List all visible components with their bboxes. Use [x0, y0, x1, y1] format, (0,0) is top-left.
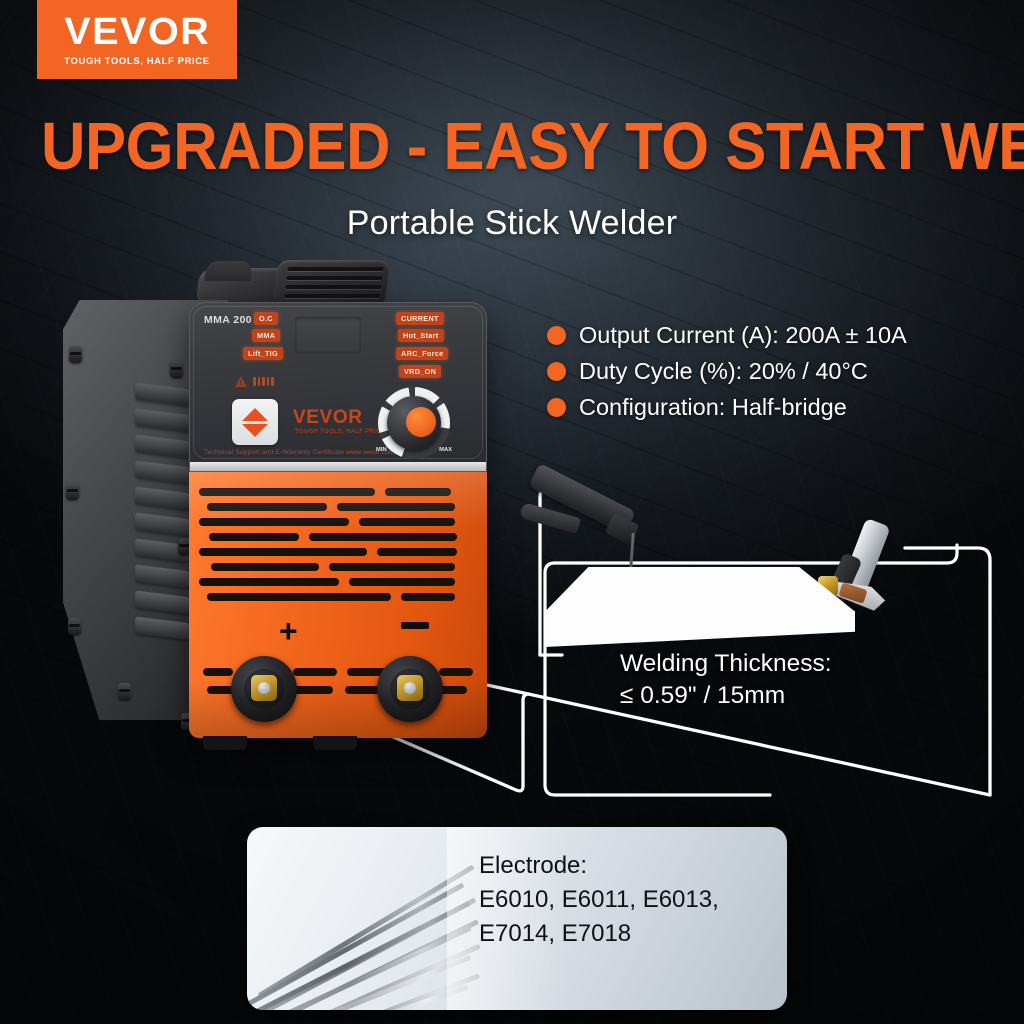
welder-feet	[203, 736, 473, 750]
spec-label: Output Current (A): 200A ± 10A	[579, 322, 907, 349]
spec-list: Output Current (A): 200A ± 10A Duty Cycl…	[547, 322, 907, 430]
spec-label: Duty Cycle (%): 20% / 40°C	[579, 358, 868, 385]
bullet-dot-icon	[547, 326, 566, 345]
brand-logo-tagline: TOUGH TOOLS, HALF PRICE	[64, 56, 209, 67]
bullet-dot-icon	[547, 398, 566, 417]
product-infographic: VEVOR TOUGH TOOLS, HALF PRICE UPGRADED -…	[0, 0, 1024, 1024]
panel-tag-arc-force: ARC_Force	[396, 347, 448, 360]
electrode-callout-text: Electrode: E6010, E6011, E6013, E7014, E…	[479, 849, 719, 951]
spec-label: Configuration: Half-bridge	[579, 394, 847, 421]
panel-tag-lift-tig: Lift_TIG	[243, 347, 283, 360]
welder-product-image: MMA 200 O.C MMA Lift_TIG CURRENT Hot_Sta…	[63, 258, 493, 758]
page-title: UPGRADED - EASY TO START WELDING	[41, 113, 983, 180]
panel-screw	[66, 483, 79, 500]
list-item: Configuration: Half-bridge	[547, 394, 907, 421]
brand-logo: VEVOR TOUGH TOOLS, HALF PRICE	[37, 0, 237, 79]
vevor-arrow-badge-icon	[232, 399, 278, 445]
model-label: MMA 200	[204, 314, 252, 326]
plate-side-face	[545, 611, 855, 651]
knob-orange-cap	[406, 407, 436, 437]
warning-icon	[235, 376, 289, 389]
electrode-callout-card: Electrode: E6010, E6011, E6013, E7014, E…	[247, 827, 787, 1010]
panel-tag-vrd-on: VRD_ON	[399, 365, 441, 378]
arrow-up-icon	[242, 408, 268, 421]
digital-display	[295, 317, 361, 353]
list-item: Output Current (A): 200A ± 10A	[547, 322, 907, 349]
thickness-line-2: ≤ 0.59" / 15mm	[620, 680, 832, 712]
carry-handle	[198, 258, 388, 306]
electrode-line-1: Electrode:	[479, 849, 719, 883]
panel-screw	[68, 618, 81, 635]
bullet-dot-icon	[547, 362, 566, 381]
electrode-line-3: E7014, E7018	[479, 917, 719, 951]
arrow-down-icon	[242, 424, 268, 437]
warning-triangle-icon	[235, 376, 247, 387]
welder-front-body: MMA 200 O.C MMA Lift_TIG CURRENT Hot_Sta…	[189, 302, 487, 738]
panel-tag-oc: O.C	[254, 312, 278, 325]
support-text-label: Technical Support and E-Warranty Certifi…	[204, 449, 346, 456]
panel-tag-mma: MMA	[252, 329, 280, 342]
thickness-line-1: Welding Thickness:	[620, 648, 832, 680]
warning-barcode-marks	[253, 377, 274, 386]
panel-brand-tagline: TOUGH TOOLS, HALF PRICE	[295, 429, 385, 435]
panel-brand-word: VEVOR	[293, 407, 363, 429]
side-louver-vents	[135, 386, 197, 644]
panel-screw	[170, 361, 183, 378]
electrode-line-2: E6010, E6011, E6013,	[479, 883, 719, 917]
steel-plate-illustration	[545, 567, 855, 657]
page-subtitle: Portable Stick Welder	[0, 204, 1024, 243]
panel-tag-current: CURRENT	[396, 312, 444, 325]
knob-max-label: MAX	[439, 447, 452, 453]
current-adjust-knob[interactable]: MIN MAX	[378, 387, 450, 459]
panel-screw	[118, 683, 131, 700]
panel-screw	[69, 346, 82, 363]
panel-tag-hot-start: Hot_Start	[398, 329, 444, 342]
knob-min-label: MIN	[376, 447, 387, 453]
welding-thickness-callout: Welding Thickness: ≤ 0.59" / 15mm	[620, 648, 832, 713]
brand-logo-word: VEVOR	[64, 13, 210, 51]
handle-vent-slots	[273, 260, 390, 304]
list-item: Duty Cycle (%): 20% / 40°C	[547, 358, 907, 385]
welder-orange-face: +	[189, 472, 487, 738]
orange-face-gloss	[189, 472, 487, 738]
control-panel: MMA 200 O.C MMA Lift_TIG CURRENT Hot_Sta…	[189, 302, 487, 472]
